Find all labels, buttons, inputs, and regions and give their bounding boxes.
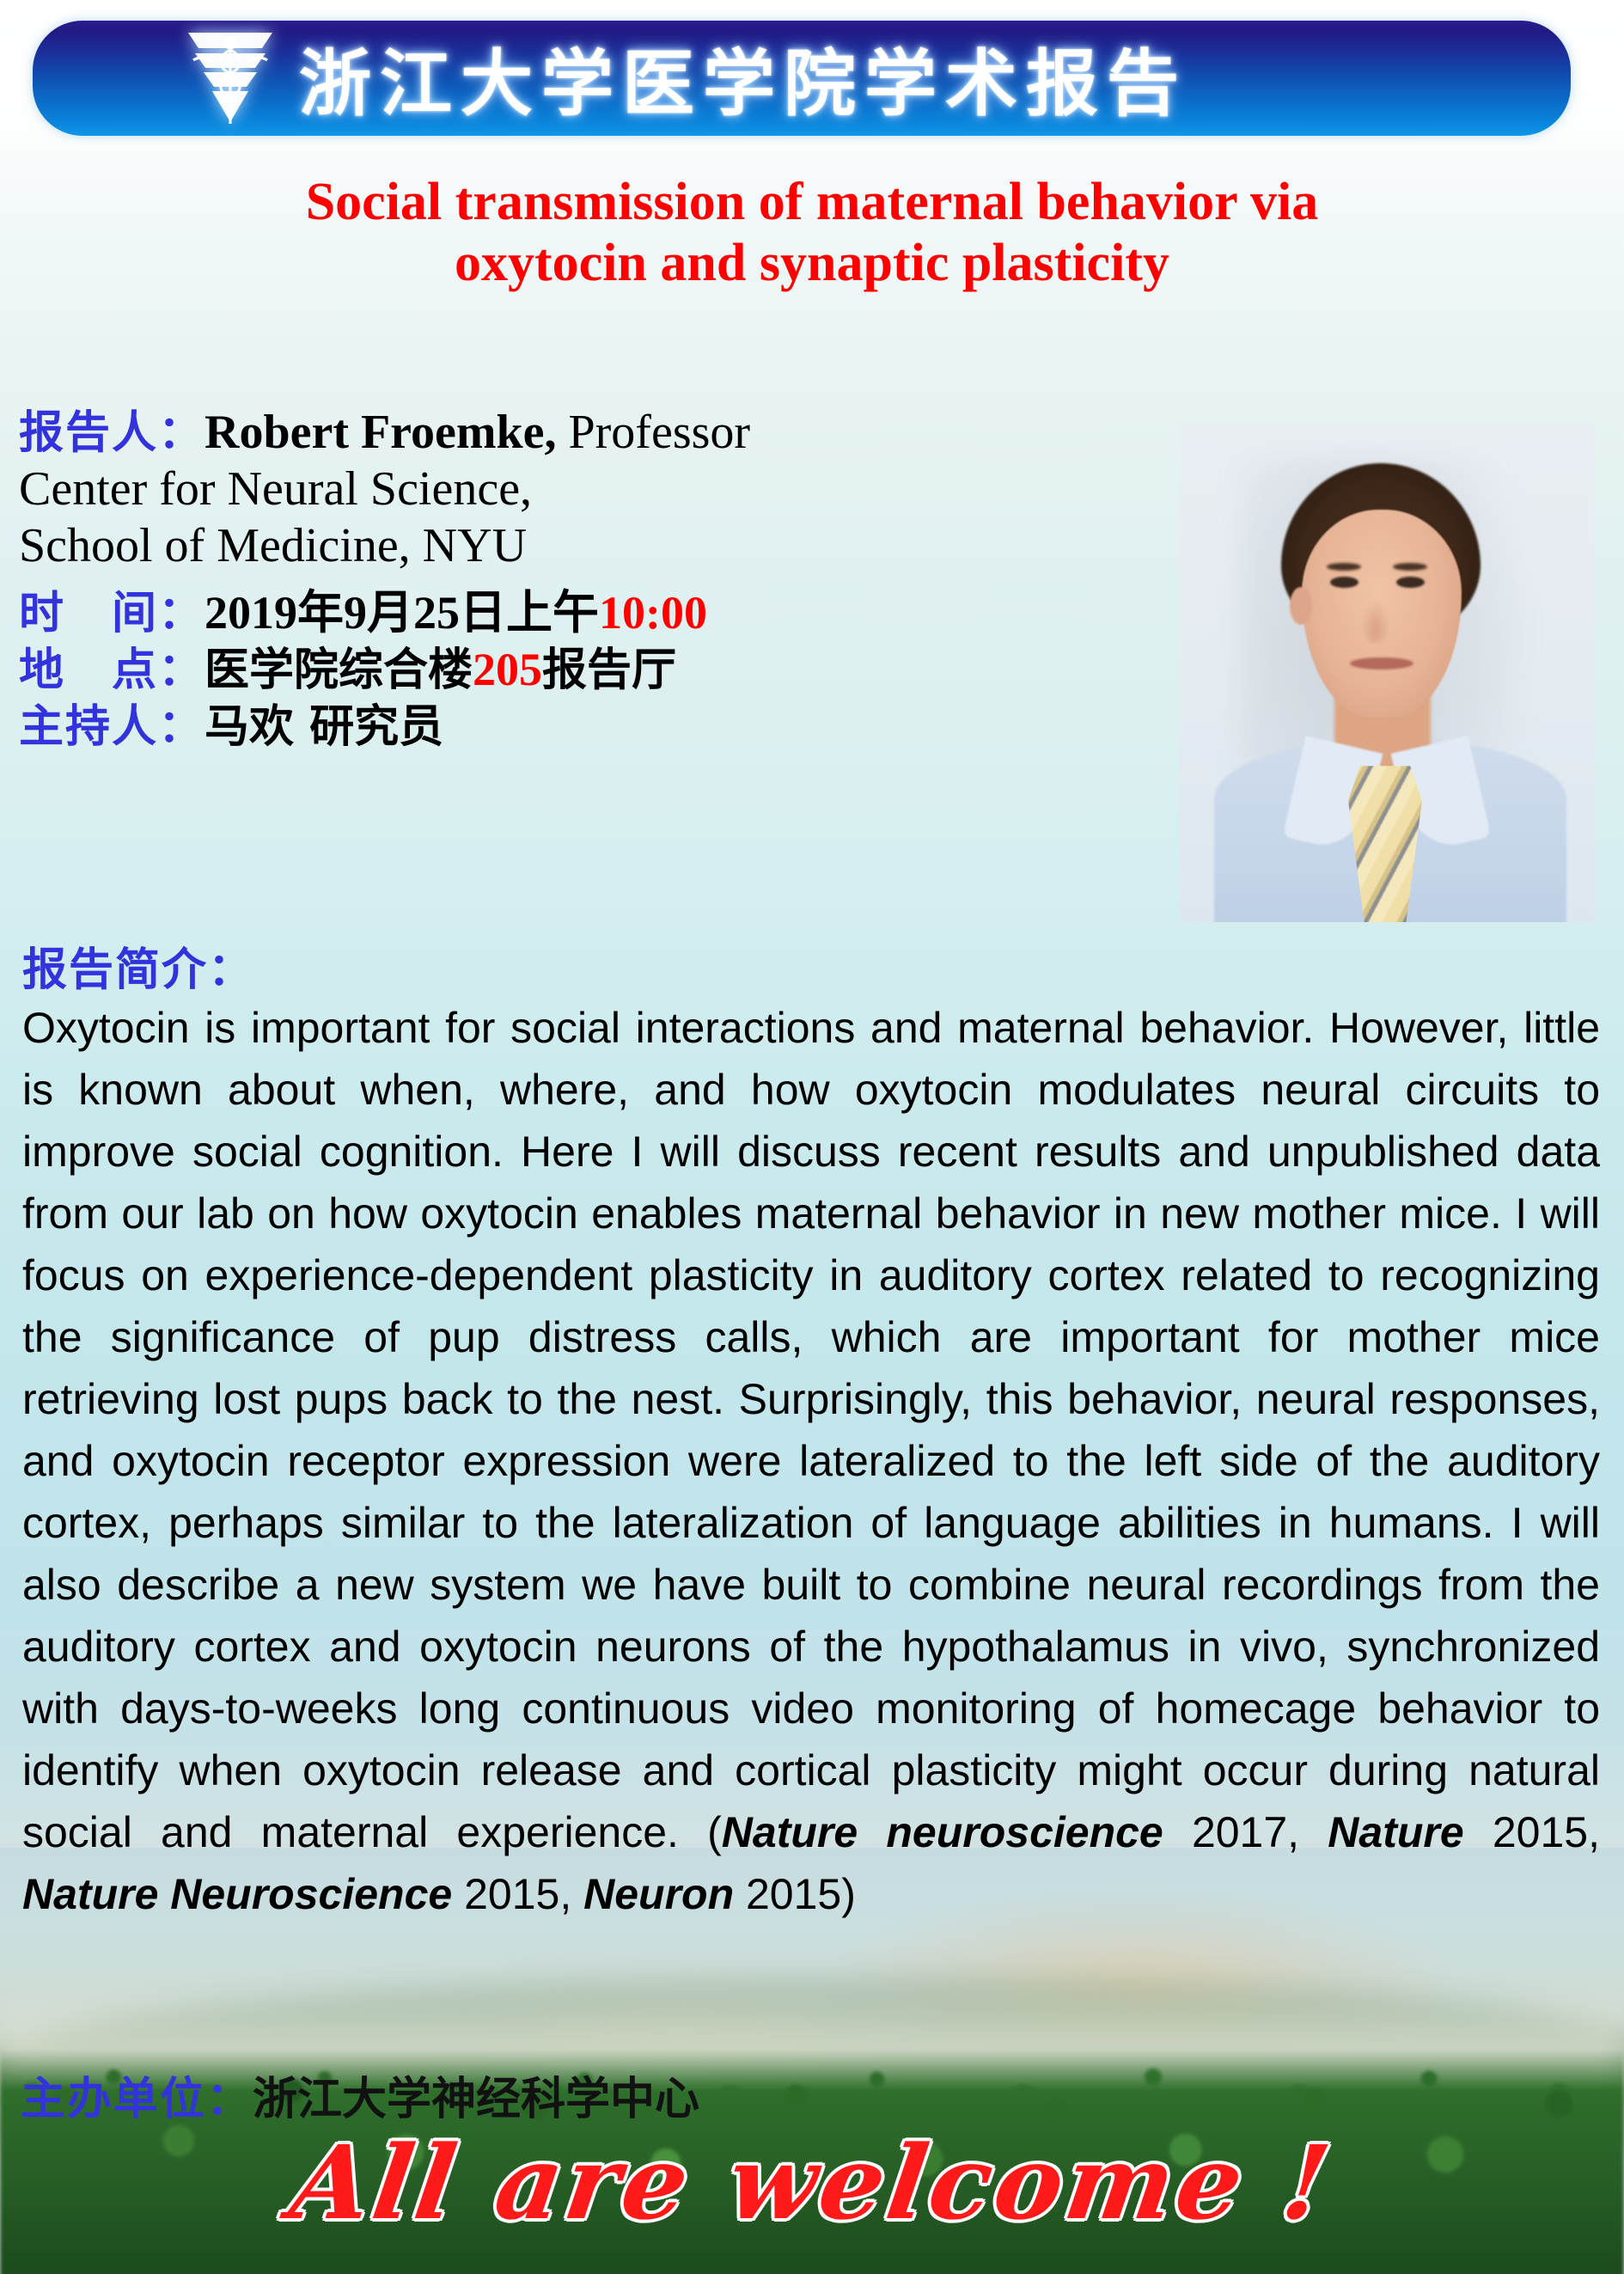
portrait-brow-right	[1393, 563, 1427, 571]
portrait-ear	[1290, 587, 1312, 625]
place-label: 地 点：	[19, 645, 205, 696]
portrait-mouth	[1350, 657, 1413, 669]
organizer-label: 主办单位：	[21, 2074, 253, 2125]
speaker-portrait	[1180, 424, 1594, 922]
place-suffix: 报告厅	[542, 645, 676, 696]
portrait-brow-left	[1327, 563, 1361, 571]
organizer-value: 浙江大学神经科学中心	[253, 2073, 699, 2125]
speaker-rank: Professor	[557, 406, 751, 459]
time-value: 2019年9月25日上午	[205, 587, 599, 639]
place-row: 地 点：医学院综合楼205报告厅	[19, 641, 1162, 698]
host-row: 主持人：马欢 研究员	[19, 698, 1162, 755]
abstract-text: Oxytocin is important for social interac…	[22, 1004, 1600, 1856]
time-value-highlight: 10:00	[599, 587, 707, 639]
portrait-eye-left	[1330, 577, 1358, 588]
page-title: Social transmission of maternal behavior…	[52, 172, 1572, 295]
speaker-row: 报告人：Robert Froemke, Professor	[19, 404, 1162, 461]
reference-year-3: 2015,	[452, 1870, 583, 1918]
title-line-2: oxytocin and synaptic plasticity	[52, 233, 1572, 294]
header-banner: 浙江大学医学院学术报告	[33, 21, 1571, 136]
reference-journal-1: Nature neuroscience	[722, 1808, 1163, 1856]
seminar-poster: 浙江大学医学院学术报告 Social transmission of mater…	[0, 0, 1624, 2274]
host-value: 马欢 研究员	[205, 701, 443, 753]
welcome-message: All are welcome !	[0, 2123, 1624, 2242]
portrait-nose	[1362, 600, 1389, 643]
reference-journal-4: Neuron	[583, 1870, 734, 1918]
abstract-label: 报告简介：	[22, 933, 254, 998]
place-room-number: 205	[473, 644, 542, 695]
reference-year-4: 2015)	[734, 1870, 856, 1918]
affiliation-line-1: Center for Neural Science,	[19, 461, 1162, 517]
portrait-eye-right	[1396, 577, 1425, 588]
speaker-name: Robert Froemke,	[205, 406, 557, 459]
abstract-body: Oxytocin is important for social interac…	[22, 997, 1600, 1925]
speaker-label: 报告人：	[19, 407, 205, 459]
place-prefix: 医学院综合楼	[205, 645, 473, 696]
time-label: 时 间：	[19, 588, 205, 639]
title-line-1: Social transmission of maternal behavior…	[52, 172, 1572, 233]
reference-year-2: 2015,	[1464, 1808, 1600, 1856]
time-row: 时 间：2019年9月25日上午10:00	[19, 584, 1162, 641]
reference-journal-2: Nature	[1328, 1808, 1463, 1856]
organizer-row: 主办单位：浙江大学神经科学中心	[21, 2063, 699, 2127]
reference-journal-3: Nature Neuroscience	[22, 1870, 452, 1918]
banner-title: 浙江大学医学院学术报告	[299, 27, 1187, 131]
host-label: 主持人：	[19, 701, 205, 753]
affiliation-line-2: School of Medicine, NYU	[19, 517, 1162, 574]
event-info: 报告人：Robert Froemke, Professor Center for…	[19, 404, 1162, 755]
caduceus-icon	[183, 28, 278, 129]
reference-year-1: 2017,	[1163, 1808, 1328, 1856]
